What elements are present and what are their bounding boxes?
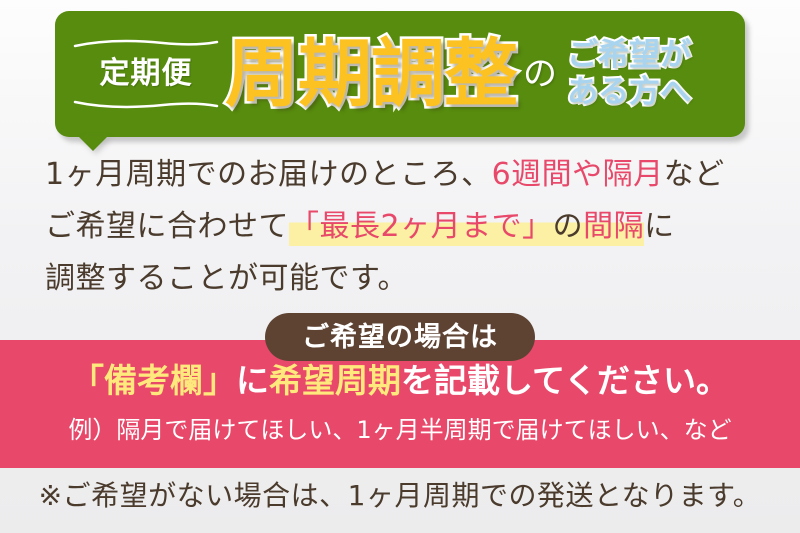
footer-note: ※ご希望がない場合は、1ヶ月周期での発送となります。: [0, 482, 800, 510]
header-content: 定期便 周期調整 の ご希望が ある方へ: [55, 11, 745, 137]
instruction-cycle-term: 希望周期: [269, 361, 401, 400]
headline-main: 周期調整: [225, 37, 517, 111]
subscription-label: 定期便: [77, 59, 215, 89]
subscription-label-group: 定期便: [77, 59, 215, 89]
instruction-field-name: 「備考欄」: [71, 361, 236, 400]
body-line-1-part-c: など: [664, 157, 725, 192]
decor-line-top-icon: [73, 39, 219, 49]
promo-banner: 定期便 周期調整 の ご希望が ある方へ 1ヶ月周期でのお届けのところ、6週間や…: [0, 0, 800, 533]
header-section: 定期便 周期調整 の ご希望が ある方へ: [0, 0, 800, 150]
decor-line-bottom-icon: [73, 99, 219, 109]
body-paragraph: 1ヶ月周期でのお届けのところ、6週間や隔月など ご希望に合わせて「最長2ヶ月まで…: [0, 150, 800, 340]
request-case-badge-label: ご希望の場合は: [302, 324, 498, 351]
body-line-2-part-a: ご希望に合わせて: [45, 209, 289, 244]
body-line-2-part-c: の: [553, 209, 584, 246]
body-line-1-part-a: 1ヶ月周期でのお届けのところ、: [45, 157, 492, 192]
request-case-badge: ご希望の場合は: [265, 313, 535, 361]
instruction-part-d: を記載してください。: [401, 361, 729, 400]
instruction-examples: 例）隔月で届けてほしい、1ヶ月半周期で届けてほしい、など: [0, 418, 800, 442]
body-line-1-accent: 6週間や隔月: [492, 157, 664, 192]
body-line-3: 調整することが可能です。: [45, 264, 408, 294]
instruction-part-b: に: [236, 361, 269, 400]
instruction-headline: 「備考欄」に希望周期を記載してください。: [0, 364, 800, 397]
callout-pointer: [78, 136, 108, 151]
headline-subtitle: ご希望が ある方へ: [567, 37, 691, 110]
body-line-2: ご希望に合わせて「最長2ヶ月まで」の間隔に: [45, 212, 675, 242]
body-line-2-accent-interval: 間隔: [583, 209, 644, 246]
body-line-2-accent-quoted: 「最長2ヶ月まで」: [289, 209, 553, 246]
body-line-2-part-e: に: [644, 209, 675, 244]
body-line-1: 1ヶ月周期でのお届けのところ、6週間や隔月など: [45, 160, 725, 190]
headline-subtitle-line1: ご希望が: [567, 37, 691, 74]
headline-subtitle-line2: ある方へ: [567, 74, 691, 111]
headline-particle: の: [523, 57, 557, 91]
